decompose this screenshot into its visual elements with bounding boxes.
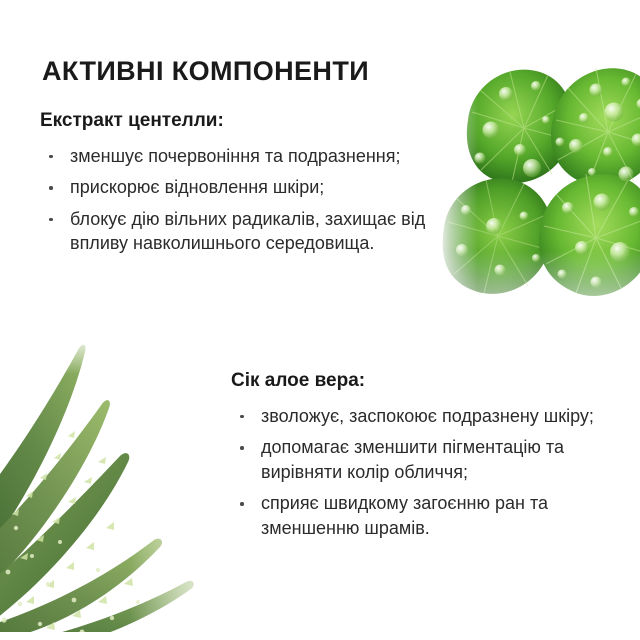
bullet-dot-icon	[49, 155, 53, 159]
benefit-text: зволожує, заспокоює подразнену шкіру;	[261, 406, 594, 426]
list-item: прискорює відновлення шкіри;	[40, 175, 440, 199]
bullet-dot-icon	[49, 218, 53, 222]
list-item: допомагає зменшити пігментацію та вирівн…	[231, 435, 631, 484]
ingredient-block-aloe: Сік алое вера: зволожує, заспокоює подра…	[231, 370, 631, 540]
ingredient-block-centella: Екстракт центелли: зменшує почервоніння …	[40, 110, 440, 256]
bullet-dot-icon	[240, 502, 244, 506]
water-droplets	[456, 78, 640, 288]
bullet-dot-icon	[49, 186, 53, 190]
benefit-text: зменшує почервоніння та подразнення;	[70, 146, 400, 166]
benefit-list-centella: зменшує почервоніння та подразнення; при…	[40, 144, 440, 256]
benefit-text: блокує дію вільних радикалів, захищає ві…	[70, 209, 425, 253]
aloe-vera-leaves-photo	[0, 332, 226, 632]
list-item: зменшує почервоніння та подразнення;	[40, 144, 440, 168]
bullet-dot-icon	[240, 446, 244, 450]
benefit-text: сприяє швидкому загоєнню ран та зменшенн…	[261, 493, 548, 537]
ingredients-infographic-card: АКТИВНІ КОМПОНЕНТИ Екстракт центелли: зм…	[0, 0, 640, 640]
ingredient-heading-centella: Екстракт центелли:	[40, 110, 440, 133]
benefit-text: прискорює відновлення шкіри;	[70, 177, 324, 197]
list-item: сприяє швидкому загоєнню ран та зменшенн…	[231, 491, 631, 540]
benefit-text: допомагає зменшити пігментацію та вирівн…	[261, 437, 564, 481]
benefit-list-aloe: зволожує, заспокоює подразнену шкіру; до…	[231, 404, 631, 540]
ingredient-heading-aloe: Сік алое вера:	[231, 370, 631, 393]
list-item: блокує дію вільних радикалів, захищає ві…	[40, 207, 440, 256]
bullet-dot-icon	[240, 415, 244, 419]
centella-leaves-photo	[436, 42, 640, 332]
list-item: зволожує, заспокоює подразнену шкіру;	[231, 404, 631, 428]
page-title: АКТИВНІ КОМПОНЕНТИ	[42, 56, 369, 87]
